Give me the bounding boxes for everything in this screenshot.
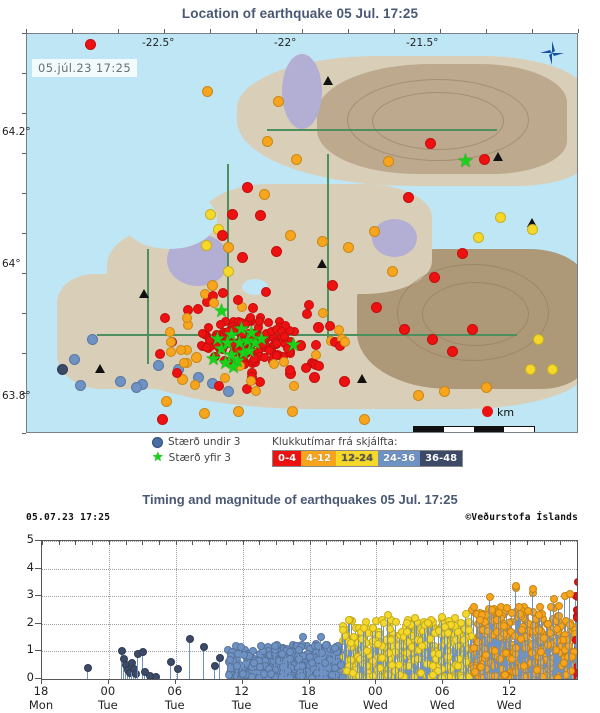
earthquake-marker[interactable] [248, 303, 258, 313]
earthquake-point[interactable] [444, 653, 452, 661]
earthquake-point[interactable] [216, 654, 224, 662]
plot-xtick-time-0: 18 [21, 684, 61, 698]
magnitude-stem [498, 612, 499, 679]
magnitude-stem [577, 581, 578, 679]
contour-line [422, 282, 529, 346]
plot-ytick-mark [35, 650, 41, 651]
earthquake-marker[interactable] [285, 230, 296, 241]
earthquake-marker[interactable] [383, 156, 394, 167]
earthquake-marker[interactable] [533, 334, 544, 345]
earthquake-star-marker[interactable]: ★ [225, 358, 242, 377]
magnitude-stem [489, 596, 490, 679]
chart-title: Timing and magnitude of earthquakes 05 J… [0, 492, 600, 507]
earthquake-marker[interactable] [75, 380, 86, 391]
volcano-icon [323, 76, 333, 85]
map-ytick-2: 63.8° [2, 390, 31, 402]
legend-hour-chip-0-4: 0-4 [273, 451, 301, 466]
map-tick-top [72, 29, 73, 33]
map-xtick-2: -21.5° [406, 37, 438, 49]
earthquake-marker[interactable] [359, 414, 370, 425]
earthquake-point[interactable] [118, 647, 126, 655]
chart-header: 05.07.23 17:25 ©Veðurstofa Íslands [0, 512, 600, 526]
earthquake-marker[interactable] [304, 300, 314, 310]
earthquake-point[interactable] [374, 640, 382, 648]
legend-size-under-3: Stærð undir 3 [152, 436, 240, 448]
map-tick-top [256, 29, 257, 33]
map-tick-left [22, 33, 26, 34]
plot-xtick-day-7: Wed [489, 698, 529, 712]
plot-ytick-label-1: 1 [14, 642, 34, 656]
plot-tick-top [276, 541, 277, 545]
magnitude-stem [447, 632, 448, 679]
earthquake-marker[interactable] [259, 189, 270, 200]
plot-ytick-label-0: 0 [14, 670, 34, 684]
map-tick-top [118, 29, 119, 33]
earthquake-point[interactable] [295, 646, 303, 654]
plot-xtick-time-6: 06 [422, 684, 462, 698]
earthquake-marker[interactable] [399, 324, 410, 335]
earthquake-marker[interactable] [334, 325, 344, 335]
map-tick-left [22, 193, 26, 194]
map-tick-left [22, 113, 26, 114]
map-tick-left [22, 73, 26, 74]
earthquake-marker[interactable] [166, 337, 176, 347]
earthquake-marker[interactable] [264, 318, 273, 327]
plot-tick-top [243, 541, 244, 545]
earthquake-marker[interactable] [223, 386, 234, 397]
earthquake-marker[interactable] [291, 154, 302, 165]
earthquake-point[interactable] [308, 659, 316, 667]
earthquake-point[interactable] [339, 626, 347, 634]
map-tick-top [348, 29, 349, 33]
earthquake-point[interactable] [486, 593, 494, 601]
plot-tick-top [226, 541, 227, 545]
magnitude-stem [377, 643, 378, 679]
earthquake-point[interactable] [535, 611, 543, 619]
plot-tick-top [477, 541, 478, 545]
magnitude-stem [515, 585, 516, 679]
plot-area[interactable] [41, 540, 578, 680]
plot-ytick-mark [35, 595, 41, 596]
plot-xtick-day-3: Tue [222, 698, 262, 712]
earthquake-marker[interactable] [172, 368, 182, 378]
earthquake-point[interactable] [529, 585, 537, 593]
earthquake-marker[interactable] [309, 372, 320, 383]
earthquake-star-marker[interactable]: ★ [285, 336, 302, 355]
plot-tick-top [209, 541, 210, 545]
earthquake-marker[interactable] [287, 406, 298, 417]
plot-xtick-day-2: Tue [155, 698, 195, 712]
chart-credit: ©Veðurstofa Íslands [466, 512, 578, 523]
plot-xtick-time-7: 12 [489, 684, 529, 698]
plot-tick-top [510, 541, 511, 545]
earthquake-marker[interactable] [242, 182, 253, 193]
earthquake-point[interactable] [248, 673, 256, 680]
plot-tick-top [109, 541, 110, 545]
earthquake-point[interactable] [411, 614, 419, 622]
earthquake-marker[interactable] [318, 308, 328, 318]
magnitude-stem [491, 609, 492, 679]
map-tick-left [22, 313, 26, 314]
earthquake-marker[interactable] [302, 309, 312, 319]
plot-xtick-time-3: 12 [222, 684, 262, 698]
earthquake-marker[interactable] [223, 242, 234, 253]
plot-tick-top [577, 541, 578, 545]
scalebar-unit-label: km [497, 406, 514, 419]
plot-xtick-day-4: Tue [289, 698, 329, 712]
map-tick-left [22, 273, 26, 274]
volcano-icon [317, 259, 327, 268]
scalebar-reference-dot [482, 406, 493, 417]
map-timestamp-label: 05.júl.23 17:25 [32, 59, 137, 77]
earthquake-marker[interactable] [473, 232, 484, 243]
map-tick-top [578, 29, 579, 33]
volcano-icon [493, 152, 503, 161]
earthquake-marker[interactable] [289, 381, 299, 391]
map-tick-top [486, 29, 487, 33]
earthquake-marker[interactable] [371, 302, 382, 313]
earthquake-marker[interactable] [271, 246, 282, 257]
earthquake-marker[interactable] [457, 248, 468, 259]
plot-tick-top [92, 541, 93, 545]
plot-tick-top [343, 541, 344, 545]
contour-line [372, 92, 504, 150]
plot-ytick-label-2: 2 [14, 615, 34, 629]
plot-tick-top [159, 541, 160, 545]
legend-label-under-3: Stærð undir 3 [168, 436, 240, 448]
earthquake-point[interactable] [200, 643, 208, 651]
plot-xtick-day-0: Mon [21, 698, 61, 712]
plot-tick-top [410, 541, 411, 545]
earthquake-marker[interactable] [255, 210, 266, 221]
plot-tick-top [192, 541, 193, 545]
magnitude-stem [520, 638, 521, 679]
plot-ytick-mark [35, 540, 41, 541]
road-north [267, 129, 497, 131]
earthquake-marker[interactable] [481, 382, 492, 393]
map-xtick-1: -22° [274, 37, 296, 49]
plot-xtick-day-1: Tue [88, 698, 128, 712]
map-tick-left [22, 433, 26, 434]
plot-tick-top [427, 541, 428, 545]
legend-hours-scale: 0-44-1212-2424-3636-48 [272, 450, 463, 467]
plot-xtick-time-5: 00 [355, 684, 395, 698]
map-tick-left [22, 153, 26, 154]
plot-ytick-label-4: 4 [14, 560, 34, 574]
map-tick-left [22, 353, 26, 354]
gridline-x-1 [109, 541, 110, 679]
magnitude-stem [406, 631, 407, 679]
earthquake-marker[interactable] [182, 313, 192, 323]
plot-tick-top [142, 541, 143, 545]
earthquake-marker[interactable] [343, 242, 354, 253]
magnitude-stem [532, 588, 533, 679]
earthquake-marker[interactable] [218, 288, 228, 298]
plot-tick-top [544, 541, 545, 545]
earthquake-point[interactable] [256, 663, 264, 671]
plot-tick-top [326, 541, 327, 545]
earthquake-marker[interactable] [547, 364, 558, 375]
earthquake-marker[interactable] [115, 376, 126, 387]
earthquake-marker[interactable] [227, 209, 238, 220]
earthquake-marker[interactable] [87, 334, 98, 345]
legend-hour-chip-12-24: 12-24 [336, 451, 378, 466]
earthquake-marker[interactable] [176, 345, 186, 355]
earthquake-marker[interactable] [199, 408, 210, 419]
earthquake-marker[interactable] [246, 376, 256, 386]
plot-tick-top [59, 541, 60, 545]
magnitude-stem [553, 598, 554, 679]
plot-xtick-time-4: 18 [289, 684, 329, 698]
earthquake-marker[interactable] [165, 327, 175, 337]
plot-xtick-time-1: 00 [88, 684, 128, 698]
earthquake-marker[interactable] [251, 386, 261, 396]
road-ring [97, 334, 517, 336]
earthquake-point[interactable] [403, 619, 411, 627]
plot-tick-top [376, 541, 377, 545]
plot-tick-top [527, 541, 528, 545]
earthquake-point[interactable] [233, 662, 241, 670]
earthquake-marker[interactable] [427, 334, 438, 345]
earthquake-point[interactable] [84, 664, 92, 672]
earthquake-point[interactable] [385, 649, 393, 657]
magnitude-stem [577, 674, 578, 680]
earthquake-point[interactable] [139, 648, 147, 656]
earthquake-map[interactable]: ★★★★★★★★★★★★★★★★★★★★ km 0 10 20 05.júl.2… [26, 33, 578, 433]
earthquake-point[interactable] [298, 662, 306, 670]
magnitude-stem [361, 638, 362, 679]
map-scalebar [413, 426, 535, 433]
earthquake-point[interactable] [321, 659, 329, 667]
earthquake-point[interactable] [317, 633, 325, 641]
map-tick-left [22, 233, 26, 234]
chart-date-stamp: 05.07.23 17:25 [26, 512, 110, 523]
earthquake-marker[interactable] [201, 240, 212, 251]
plot-xtick-time-2: 06 [155, 684, 195, 698]
plot-ytick-mark [35, 623, 41, 624]
earthquake-point[interactable] [322, 641, 330, 649]
earthquake-point[interactable] [501, 671, 509, 679]
earthquake-point[interactable] [500, 622, 508, 630]
earthquake-marker[interactable] [525, 364, 536, 375]
map-legend: Stærð undir 3 ★ Stærð yfir 3 Klukkutímar… [26, 436, 578, 472]
legend-hour-chip-4-12: 4-12 [301, 451, 336, 466]
plot-tick-top [176, 541, 177, 545]
plot-xtick-day-5: Wed [355, 698, 395, 712]
earthquake-point[interactable] [476, 616, 484, 624]
earthquake-point[interactable] [457, 619, 465, 627]
earthquake-point[interactable] [573, 614, 578, 622]
earthquake-star-marker[interactable]: ★ [213, 302, 230, 321]
earthquake-point[interactable] [567, 667, 575, 675]
map-ytick-1: 64° [2, 258, 21, 270]
legend-hour-chip-24-36: 24-36 [378, 451, 420, 466]
map-tick-top [532, 29, 533, 33]
magnitude-stem [342, 629, 343, 679]
earthquake-marker[interactable] [272, 339, 281, 348]
earthquake-marker[interactable] [339, 376, 350, 387]
earthquake-star-marker[interactable]: ★ [209, 330, 226, 349]
earthquake-marker[interactable] [131, 382, 142, 393]
earthquake-point[interactable] [369, 624, 377, 632]
earthquake-point[interactable] [418, 642, 426, 650]
earthquake-point[interactable] [550, 595, 558, 603]
map-xtick-0: -22.5° [142, 37, 174, 49]
earthquake-star-marker[interactable]: ★ [457, 152, 474, 171]
earthquake-marker[interactable] [69, 354, 80, 365]
earthquake-star-marker[interactable]: ★ [253, 330, 270, 349]
magnitude-stem [527, 610, 528, 679]
plot-tick-top [393, 541, 394, 545]
plot-tick-top [443, 541, 444, 545]
earthquake-marker[interactable] [157, 414, 168, 425]
earthquake-marker[interactable] [429, 272, 440, 283]
earthquake-marker[interactable] [202, 86, 213, 97]
earthquake-point[interactable] [186, 635, 194, 643]
earthquake-marker[interactable] [57, 364, 68, 375]
earthquake-marker[interactable] [387, 266, 398, 277]
magnitude-stem [465, 613, 466, 679]
earthquake-marker[interactable] [439, 386, 450, 397]
map-tick-top [440, 29, 441, 33]
legend-hour-chip-36-48: 36-48 [420, 451, 462, 466]
earthquake-marker[interactable] [447, 346, 458, 357]
map-tick-top [302, 29, 303, 33]
earthquake-point[interactable] [299, 633, 307, 641]
plot-tick-top [460, 541, 461, 545]
gridline-x-2 [176, 541, 177, 679]
magnitude-stem [577, 613, 578, 679]
earthquake-marker[interactable] [527, 224, 538, 235]
earthquake-point[interactable] [471, 668, 479, 676]
earthquake-marker[interactable] [214, 381, 224, 391]
earthquake-marker[interactable] [467, 324, 478, 335]
earthquake-point[interactable] [403, 628, 411, 636]
earthquake-point[interactable] [462, 610, 470, 618]
map-title: Location of earthquake 05 Jul. 17:25 [0, 6, 600, 21]
earthquake-marker[interactable] [369, 226, 380, 237]
magnitude-stem [414, 617, 415, 679]
earthquake-marker[interactable] [207, 280, 218, 291]
magnitude-stem [320, 636, 321, 679]
glacier-langjokull [282, 54, 322, 129]
earthquake-point[interactable] [392, 618, 400, 626]
earthquake-point[interactable] [555, 602, 563, 610]
magnitude-stem [387, 614, 388, 679]
legend-hours-title: Klukkutímar frá skjálfta: [272, 436, 398, 448]
earthquake-marker[interactable] [205, 209, 216, 220]
earthquake-point[interactable] [574, 593, 578, 601]
magnitude-stem [189, 638, 190, 679]
earthquake-point[interactable] [452, 636, 460, 644]
earthquake-marker[interactable] [425, 138, 436, 149]
earthquake-marker[interactable] [495, 212, 506, 223]
magnitude-stem [395, 621, 396, 679]
plot-tick-top [126, 541, 127, 545]
magnitude-stem [441, 616, 442, 679]
plot-xtick-day-6: Wed [422, 698, 462, 712]
timing-magnitude-plot[interactable]: 01234518Mon00Tue06Tue12Tue18Tue00Wed06We… [0, 532, 600, 713]
earthquake-marker[interactable] [262, 136, 273, 147]
earthquake-marker[interactable] [223, 266, 234, 277]
legend-size-over-3: ★ Stærð yfir 3 [152, 451, 231, 464]
earthquake-marker[interactable] [314, 361, 324, 371]
plot-tick-top [360, 541, 361, 545]
plot-tick-top [293, 541, 294, 545]
earthquake-marker[interactable] [161, 396, 172, 407]
earthquake-marker[interactable] [403, 192, 414, 203]
earthquake-point[interactable] [547, 603, 555, 611]
earthquake-point[interactable] [429, 671, 437, 679]
earthquake-point[interactable] [554, 674, 562, 680]
plot-ytick-label-5: 5 [14, 532, 34, 546]
magnitude-stem [411, 646, 412, 679]
magnitude-stem [547, 623, 548, 679]
earthquake-point[interactable] [396, 671, 404, 679]
map-ytick-0: 64.2° [2, 126, 31, 138]
magnitude-stem [549, 632, 550, 679]
magnitude-stem [557, 631, 558, 679]
volcano-icon [357, 374, 367, 383]
earthquake-marker[interactable] [153, 360, 164, 371]
legend-label-over-3: Stærð yfir 3 [169, 452, 231, 464]
plot-tick-top [42, 541, 43, 545]
earthquake-marker[interactable] [233, 406, 244, 417]
earthquake-point[interactable] [132, 670, 140, 678]
earthquake-point[interactable] [572, 636, 578, 644]
plot-ytick-label-3: 3 [14, 587, 34, 601]
earthquake-marker[interactable] [237, 252, 248, 263]
earthquake-marker[interactable] [191, 352, 202, 363]
earthquake-point[interactable] [152, 673, 160, 680]
earthquake-marker[interactable] [327, 280, 338, 291]
magnitude-stem [372, 627, 373, 679]
earthquake-marker[interactable] [479, 154, 490, 165]
road-branch [147, 249, 149, 364]
volcano-icon [139, 289, 149, 298]
star-marker-icon: ★ [152, 451, 164, 464]
magnitude-stem [569, 593, 570, 679]
plot-tick-top [75, 541, 76, 545]
earthquake-marker[interactable] [217, 230, 228, 241]
earthquake-marker[interactable] [313, 322, 324, 333]
earthquake-marker[interactable] [413, 390, 424, 401]
volcano-icon [95, 364, 105, 373]
earthquake-point[interactable] [167, 658, 175, 666]
map-tick-top [394, 29, 395, 33]
magnitude-stem [427, 622, 428, 679]
plot-ytick-mark [35, 568, 41, 569]
earthquake-marker[interactable] [273, 96, 284, 107]
plot-tick-top [259, 541, 260, 545]
plot-tick-top [560, 541, 561, 545]
plot-tick-top [310, 541, 311, 545]
earthquake-marker[interactable] [317, 236, 328, 247]
map-tick-top [210, 29, 211, 33]
earthquake-point[interactable] [174, 665, 182, 673]
map-tick-top [26, 29, 27, 33]
earthquake-point[interactable] [574, 578, 578, 586]
earthquake-point[interactable] [360, 624, 368, 632]
glacier-myrdalsjokull [372, 219, 417, 257]
plot-tick-top [493, 541, 494, 545]
earthquake-marker[interactable] [85, 39, 96, 50]
earthquake-point[interactable] [438, 613, 446, 621]
circle-marker-icon [152, 437, 163, 448]
earthquake-point[interactable] [520, 662, 528, 670]
map-tick-top [164, 29, 165, 33]
north-arrow-icon [539, 40, 565, 66]
